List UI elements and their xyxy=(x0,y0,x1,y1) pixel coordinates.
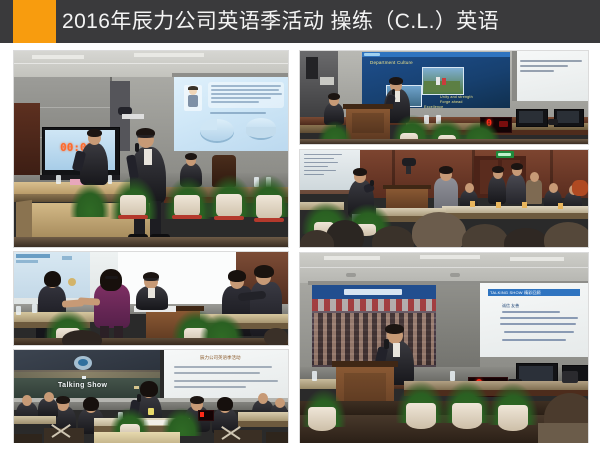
photo-middle-left[interactable] xyxy=(14,252,288,345)
photo-top-right[interactable]: Department Culture Unity and strength Fo… xyxy=(300,51,588,144)
audience-head xyxy=(504,228,548,247)
page-title: 2016年辰力公司英语季活动 操练（C.L.）英语 xyxy=(62,0,499,43)
slide-canvas: 2016年辰力公司英语季活动 操练（C.L.）英语 xyxy=(0,0,600,450)
audience-head xyxy=(544,222,588,247)
scene-award-handshake-and-hug xyxy=(14,252,288,345)
audience-head xyxy=(62,330,102,345)
audience-head xyxy=(462,224,508,247)
slide-title-talking-show: Talking Show xyxy=(58,382,107,389)
scene-podium-talking-show: TALKING SHOW 精彩回顾 诚信 友善 0 xyxy=(300,253,588,443)
scene-talking-show-panel: Talking Show 辰力公司英语季活动 xyxy=(14,350,288,443)
photo-bottom-left[interactable]: Talking Show 辰力公司英语季活动 xyxy=(14,350,288,443)
slide-bullet-2: Forge ahead xyxy=(440,100,463,104)
photo-bottom-right[interactable]: TALKING SHOW 精彩回顾 诚信 友善 0 xyxy=(300,253,588,443)
slide-title-department-culture: Department Culture xyxy=(370,60,413,65)
slide-bullet-3: Excellence xyxy=(424,105,443,109)
scene-podium-presentation: Department Culture Unity and strength Fo… xyxy=(300,51,588,144)
audience-head xyxy=(372,226,414,247)
bottom-margin xyxy=(0,443,600,450)
scene-conference-room-presentation: 00:01: xyxy=(14,51,288,247)
person-secondary-presenter xyxy=(80,143,108,185)
header-accent-block xyxy=(13,0,56,43)
slide-subtitle-chinese: 辰力公司英语季活动 xyxy=(200,355,241,361)
slide-bullet-1: Unity and strength xyxy=(440,95,473,99)
slide-title-talking-show: TALKING SHOW 精彩回顾 xyxy=(490,290,541,296)
scene-lecture-hall-audience xyxy=(300,150,588,247)
audience-head xyxy=(264,328,288,345)
header-bar: 2016年辰力公司英语季活动 操练（C.L.）英语 xyxy=(0,0,600,43)
photo-top-left[interactable]: 00:01: xyxy=(14,51,288,247)
photo-middle-right[interactable] xyxy=(300,150,588,247)
audience-head xyxy=(412,212,466,247)
